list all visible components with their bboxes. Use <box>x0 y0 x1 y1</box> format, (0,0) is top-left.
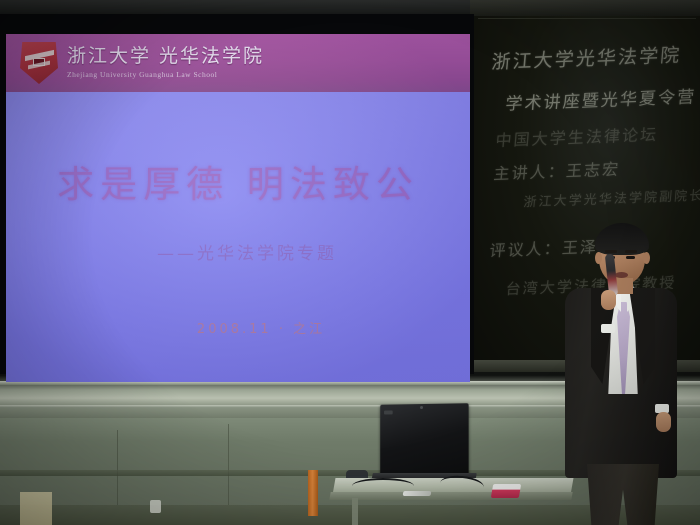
blackboard-frame-top <box>470 0 700 16</box>
presenter-ear-right <box>643 252 650 264</box>
blackboard-inner-edge <box>478 18 696 19</box>
presenter-trousers <box>587 464 659 525</box>
slide-date-line: 2008.11 · 之江 <box>6 318 470 337</box>
slide-logo-text: 浙江大学 光华法学院 Zhejiang University Guanghua … <box>67 47 264 79</box>
laptop-logo-icon <box>384 410 393 414</box>
wall-outlet-icon <box>150 500 161 513</box>
presenter <box>565 228 677 525</box>
orange-support-post <box>308 470 318 516</box>
slide-subtitle: ——光华法学院专题 <box>6 239 470 264</box>
org-name-cn: 浙江大学 光华法学院 <box>67 47 264 67</box>
projected-slide: 浙江大学 光华法学院 Zhejiang University Guanghua … <box>6 34 470 382</box>
presenter-hand-left <box>601 290 616 310</box>
presenter-cuff-left <box>601 324 615 333</box>
slide-banner: 浙江大学 光华法学院 Zhejiang University Guanghua … <box>6 34 470 92</box>
zhejiang-university-crest-icon <box>20 42 58 84</box>
projection-screen-frame: 浙江大学 光华法学院 Zhejiang University Guanghua … <box>0 14 474 374</box>
slide-title: 求是厚德 明法致公 <box>6 154 470 208</box>
lectern-table-leg <box>352 498 358 525</box>
lecture-hall-photo: 浙江大学光华法学院 学术讲座暨光华夏令营 中国大学生法律论坛 主讲人：王志宏 浙… <box>0 0 700 525</box>
chalk-line-4: 主讲人：王志宏 <box>493 156 622 185</box>
presenter-ear-left <box>595 252 602 264</box>
wall-notice-patch <box>20 492 52 525</box>
org-name-en: Zhejiang University Guanghua Law School <box>67 70 264 79</box>
crest-badge <box>33 58 46 66</box>
presenter-hair <box>595 223 649 255</box>
presenter-brow-right <box>625 250 637 253</box>
lectern-table-edge <box>329 492 572 500</box>
pink-box-icon <box>491 484 521 498</box>
laptop-webcam-icon <box>420 406 423 409</box>
presenter-eye-right <box>626 256 635 259</box>
presenter-mouth <box>615 272 628 278</box>
presenter-hand-right <box>656 412 671 432</box>
presenter-brow-left <box>605 250 617 253</box>
laser-pointer-icon <box>403 491 432 496</box>
thinkpad-laptop-icon <box>380 403 468 477</box>
